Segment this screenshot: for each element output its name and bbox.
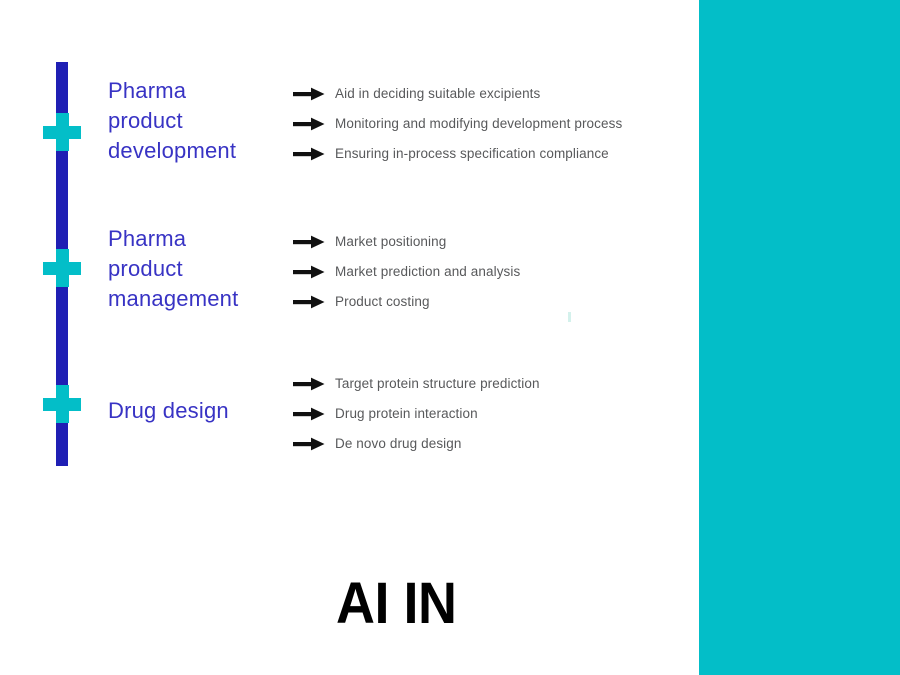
timeline-group-pharma-product-development: Pharma product development Aid in decidi… [108, 76, 622, 169]
list-item: Drug protein interaction [293, 399, 540, 429]
bullet-list: Target protein structure prediction Drug… [293, 366, 540, 459]
list-item-label: Product costing [335, 294, 430, 310]
list-item-label: Target protein structure prediction [335, 376, 540, 392]
arrow-right-icon [293, 377, 325, 391]
timeline-group-pharma-product-management: Pharma product management Market positio… [108, 224, 520, 317]
arrow-right-icon [293, 265, 325, 279]
list-item: Market prediction and analysis [293, 257, 520, 287]
plus-icon-group-2 [43, 249, 81, 287]
arrow-right-icon [293, 147, 325, 161]
list-item: De novo drug design [293, 429, 540, 459]
group-heading: Pharma product management [108, 224, 283, 314]
list-item: Market positioning [293, 227, 520, 257]
bullet-list: Aid in deciding suitable excipients Moni… [293, 76, 622, 169]
plus-icon-group-3 [43, 385, 81, 423]
arrow-right-icon [293, 117, 325, 131]
arrow-right-icon [293, 235, 325, 249]
stray-artifact-mark [568, 312, 571, 322]
plus-icon-group-1 [43, 113, 81, 151]
plus-icon-horizontal-stroke [43, 398, 81, 411]
list-item-label: Drug protein interaction [335, 406, 478, 422]
group-heading: Drug design [108, 366, 283, 426]
list-item-label: Monitoring and modifying development pro… [335, 116, 622, 132]
list-item: Aid in deciding suitable excipients [293, 79, 622, 109]
list-item-label: Ensuring in-process specification compli… [335, 146, 609, 162]
arrow-right-icon [293, 87, 325, 101]
group-heading: Pharma product development [108, 76, 283, 166]
list-item: Ensuring in-process specification compli… [293, 139, 622, 169]
arrow-right-icon [293, 437, 325, 451]
arrow-right-icon [293, 407, 325, 421]
list-item-label: Market positioning [335, 234, 446, 250]
list-item-label: Aid in deciding suitable excipients [335, 86, 540, 102]
page-title: AI IN PHARMACEUTICAL [336, 518, 839, 675]
list-item: Monitoring and modifying development pro… [293, 109, 622, 139]
list-item-label: Market prediction and analysis [335, 264, 520, 280]
list-item-label: De novo drug design [335, 436, 462, 452]
plus-icon-horizontal-stroke [43, 126, 81, 139]
page-title-line-1: AI IN [336, 575, 839, 632]
arrow-right-icon [293, 295, 325, 309]
slide-canvas: Pharma product development Aid in decidi… [0, 0, 900, 675]
timeline-group-drug-design: Drug design Target protein structure pre… [108, 366, 540, 459]
plus-icon-horizontal-stroke [43, 262, 81, 275]
bullet-list: Market positioning Market prediction and… [293, 224, 520, 317]
list-item: Product costing [293, 287, 520, 317]
list-item: Target protein structure prediction [293, 369, 540, 399]
